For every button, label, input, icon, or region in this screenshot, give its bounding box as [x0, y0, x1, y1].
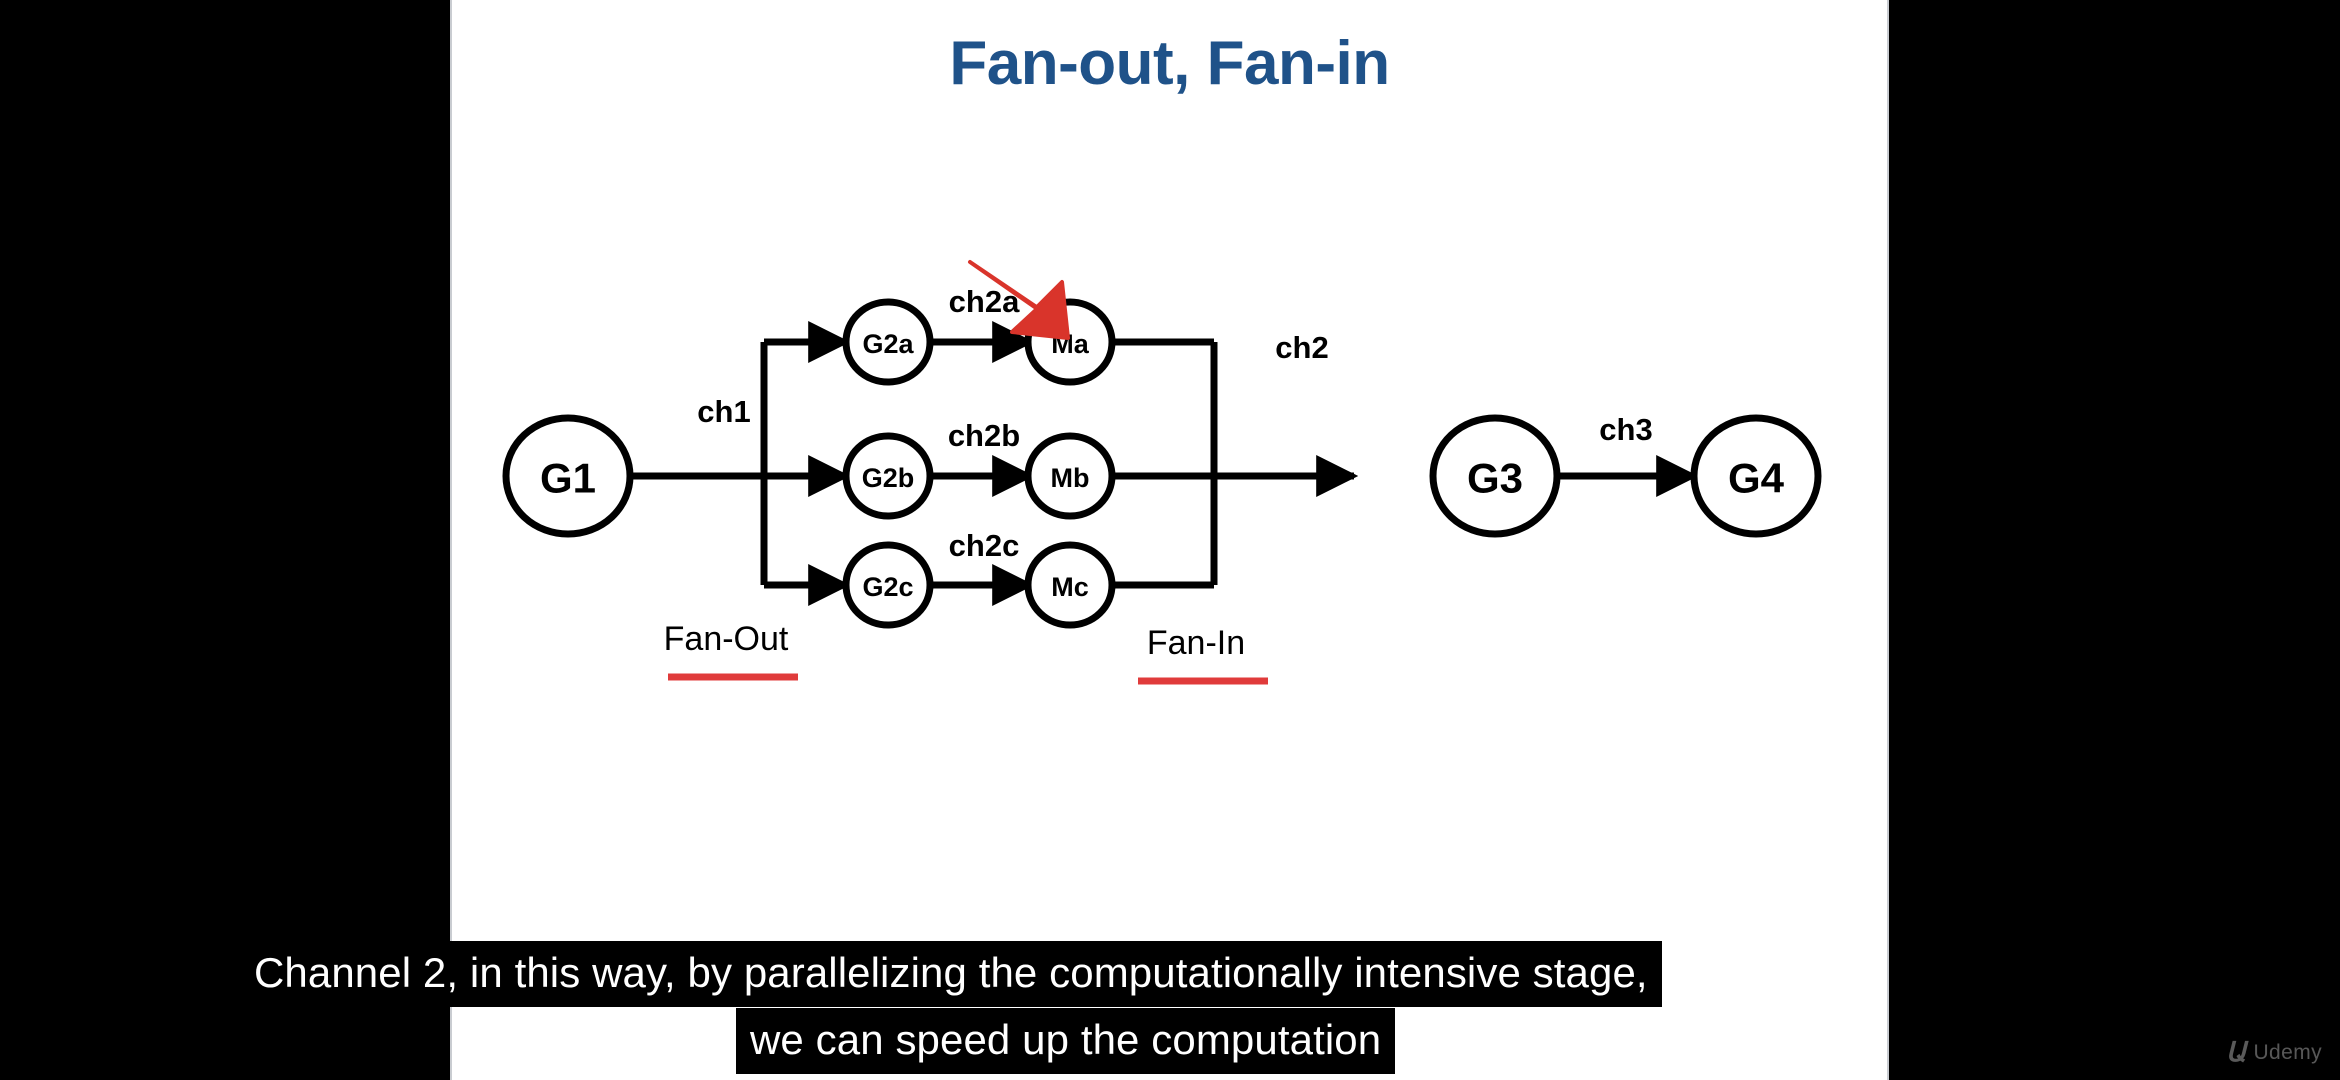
channel-label-ch1: ch1 [697, 394, 750, 429]
channel-label-ch3: ch3 [1599, 412, 1652, 447]
udemy-mark-icon: Ա [2226, 1039, 2247, 1066]
page-title: Fan-out, Fan-in [452, 28, 1887, 99]
channel-label-ch2b: ch2b [948, 418, 1020, 453]
node-label-g3: G3 [1467, 455, 1523, 502]
node-label-g2c: G2c [862, 572, 913, 602]
caption-line-2: we can speed up the computation [736, 1008, 1395, 1074]
channel-label-ch2: ch2 [1275, 330, 1328, 365]
channel-label-ch2c: ch2c [949, 528, 1020, 563]
fan-out-fan-in-diagram: G1 G2a G2b G2c Ma Mb Mc G3 G4 ch1 ch2a c… [502, 250, 1842, 710]
annotation-fan-out: Fan-Out [664, 620, 789, 658]
video-player[interactable]: Fan-out, Fan-in [0, 0, 2340, 1080]
node-label-g1: G1 [540, 455, 596, 502]
node-label-g2b: G2b [862, 463, 915, 493]
node-label-g2a: G2a [862, 329, 914, 359]
caption-line-1: Channel 2, in this way, by parallelizing… [240, 941, 1662, 1007]
udemy-watermark: Ա Udemy [2226, 1039, 2322, 1066]
udemy-wordmark: Udemy [2253, 1042, 2322, 1063]
presentation-slide: Fan-out, Fan-in [450, 0, 1889, 1080]
annotation-fan-in: Fan-In [1147, 624, 1245, 662]
node-label-mc: Mc [1051, 572, 1089, 602]
node-label-mb: Mb [1051, 463, 1090, 493]
node-label-g4: G4 [1728, 455, 1785, 502]
